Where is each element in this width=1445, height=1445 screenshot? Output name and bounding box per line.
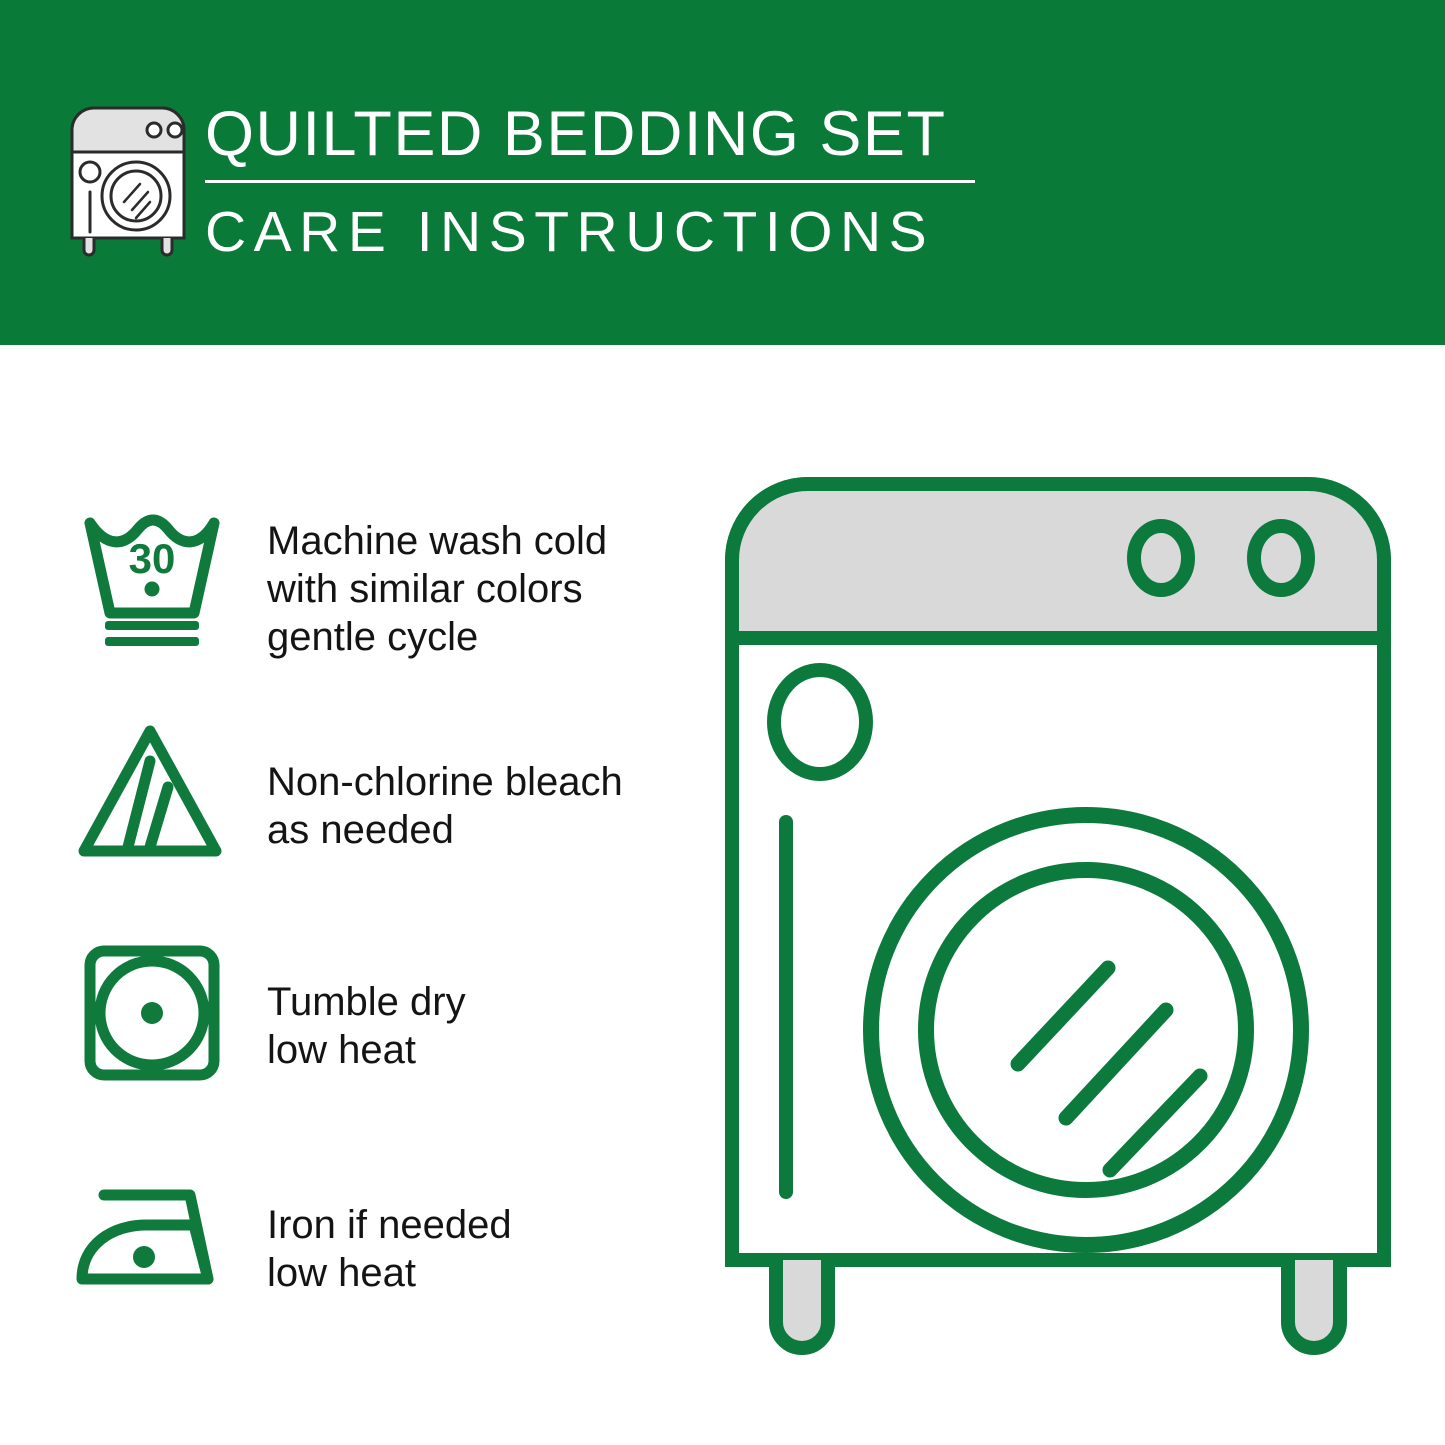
tumble-dry-low-icon <box>72 933 232 1093</box>
care-row-iron: Iron if needed low heat <box>72 1153 692 1313</box>
care-instructions-infographic: QUILTED BEDDING SET CARE INSTRUCTIONS 30 <box>0 0 1445 1445</box>
care-row-machine-wash: 30 Machine wash cold with similar colors… <box>72 495 692 661</box>
header-text-block: QUILTED BEDDING SET CARE INSTRUCTIONS <box>205 98 1005 265</box>
care-label-tumble-dry: Tumble dry low heat <box>267 978 692 1074</box>
leg-left <box>776 1260 828 1348</box>
knob-right <box>1254 526 1308 590</box>
washing-machine-icon <box>62 100 194 260</box>
knob-left <box>1134 526 1188 590</box>
care-row-tumble-dry: Tumble dry low heat <box>72 933 692 1093</box>
front-load-washing-machine-illustration <box>718 470 1398 1370</box>
leg-right <box>1288 1260 1340 1348</box>
care-label-machine-wash: Machine wash cold with similar colors ge… <box>267 517 692 661</box>
page-subtitle: CARE INSTRUCTIONS <box>205 199 1005 265</box>
wash-temperature-value: 30 <box>129 535 176 582</box>
care-row-bleach: Non-chlorine bleach as needed <box>72 713 692 873</box>
care-instructions-list: 30 Machine wash cold with similar colors… <box>0 345 700 1445</box>
header-band: QUILTED BEDDING SET CARE INSTRUCTIONS <box>0 0 1445 345</box>
wash-tub-30-icon: 30 <box>72 495 232 655</box>
detergent-dispenser <box>774 670 866 774</box>
bleach-triangle-icon <box>72 713 232 873</box>
iron-low-heat-icon <box>72 1153 232 1313</box>
title-divider <box>205 180 975 183</box>
page-title: QUILTED BEDDING SET <box>205 98 1005 170</box>
care-label-bleach: Non-chlorine bleach as needed <box>267 758 692 854</box>
care-label-iron: Iron if needed low heat <box>267 1201 692 1297</box>
